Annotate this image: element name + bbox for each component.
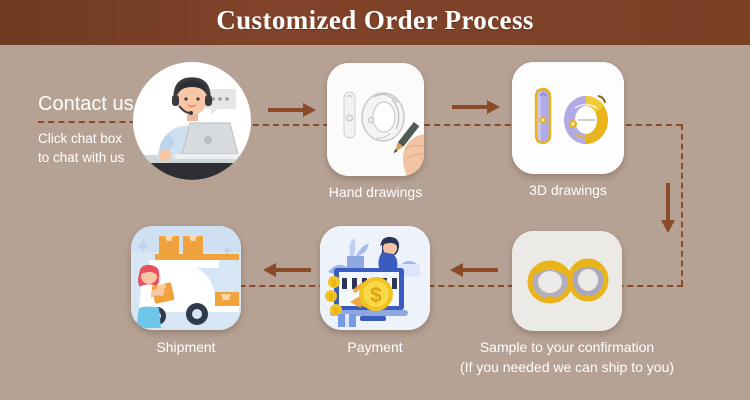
step-sample-label-2: (If you needed we can ship to you): [460, 357, 674, 377]
process-diagram: Customized Order Process Contact us Clic…: [0, 0, 750, 400]
step-hand-drawings-label: Hand drawings: [329, 183, 422, 202]
hand-drawing-illustration: [327, 63, 424, 176]
three-d-render-illustration: [512, 62, 624, 174]
step-sample-label: Sample to your confirmation: [480, 337, 654, 357]
arrow-contact-to-hand: [268, 103, 316, 117]
svg-text:$: $: [332, 279, 337, 288]
step-3d-drawings[interactable]: 3D drawings: [512, 62, 624, 174]
step-shipment-label: Shipment: [156, 338, 215, 357]
svg-text:$: $: [329, 293, 334, 302]
header-banner: Customized Order Process: [0, 0, 750, 45]
arrow-sample-to-payment: [450, 263, 498, 277]
arrow-hand-to-3d: [452, 100, 500, 114]
step-contact[interactable]: [133, 62, 251, 180]
step-3d-drawings-label: 3D drawings: [529, 181, 607, 200]
arrow-payment-to-shipment: [263, 263, 311, 277]
page-title: Customized Order Process: [0, 5, 750, 36]
svg-text:$: $: [370, 284, 382, 307]
arrow-3d-to-sample: [661, 183, 675, 233]
sample-photo-illustration: [512, 231, 622, 331]
dashed-path-right: [681, 124, 683, 286]
support-agent-illustration: [133, 62, 251, 180]
step-sample[interactable]: Sample to your confirmation (If you need…: [512, 231, 622, 331]
step-payment[interactable]: $ $ $ $ Payment: [320, 226, 430, 330]
step-payment-label: Payment: [347, 338, 402, 357]
step-hand-drawings[interactable]: Hand drawings: [327, 63, 424, 176]
shipment-illustration: [131, 226, 241, 330]
payment-illustration: $ $ $ $: [320, 226, 430, 330]
step-shipment[interactable]: Shipment: [131, 226, 241, 330]
